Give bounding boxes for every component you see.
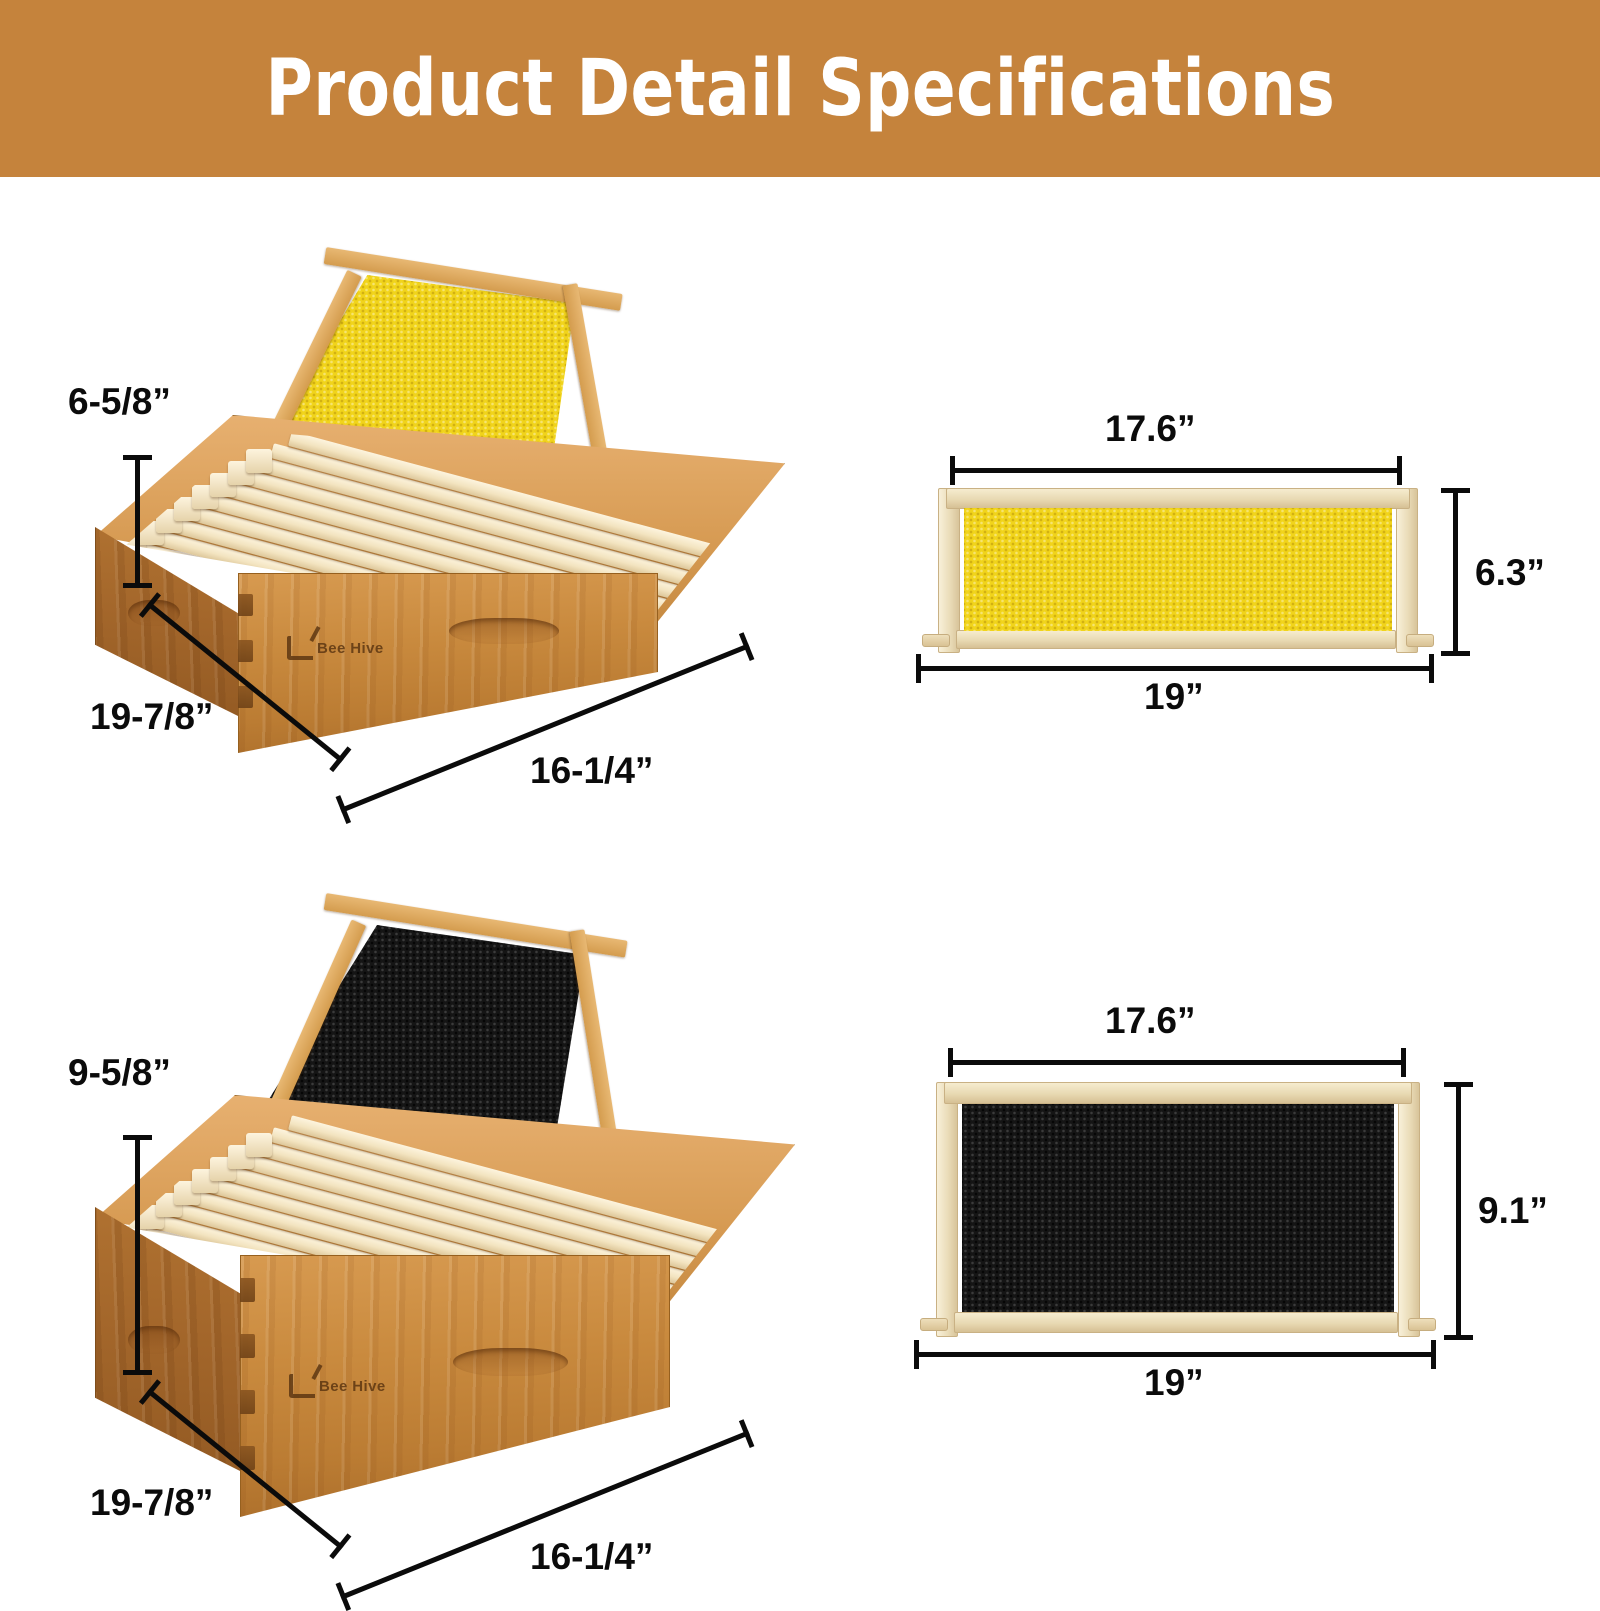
product-medium-super-box: Bee Hive 6-5/8” 19-7/8” 16-1/4” [60, 200, 820, 840]
page-header: Product Detail Specifications [0, 0, 1600, 177]
house-hive-icon [289, 1374, 315, 1398]
frame-ear-left [920, 1318, 948, 1331]
frame-rail-right [1396, 488, 1418, 653]
dimension-label-height: 9-5/8” [68, 1052, 171, 1094]
dimension-line-height [135, 1135, 140, 1375]
foundation-yellow [964, 508, 1392, 631]
product-deep-brood-box: Bee Hive 9-5/8” 19-7/8” 16-1/4” [60, 860, 820, 1580]
dimension-label-width: 16-1/4” [530, 750, 653, 792]
dimension-line-frame-height [1456, 1082, 1461, 1340]
frame-medium-yellow [938, 488, 1418, 653]
foundation-black [962, 1104, 1394, 1312]
dimension-line-height [135, 455, 140, 588]
frame-ear-right [1408, 1318, 1436, 1331]
frame-rail-right [1398, 1082, 1420, 1337]
frame-ear-right [1406, 634, 1434, 647]
dimension-label-overall-width: 19” [1144, 676, 1204, 718]
brand-logo-text: Bee Hive [317, 640, 384, 657]
dimension-label-depth: 19-7/8” [90, 696, 213, 738]
frame-bottom-bar [956, 630, 1396, 649]
frame-ear-left [922, 634, 950, 647]
brand-logo-text: Bee Hive [319, 1378, 386, 1395]
brand-logo: Bee Hive [287, 636, 384, 660]
dimension-label-frame-height: 6.3” [1475, 552, 1545, 594]
frame-bottom-bar [954, 1312, 1398, 1333]
dimension-label-width: 16-1/4” [530, 1536, 653, 1578]
brand-logo: Bee Hive [289, 1374, 386, 1398]
page-title: Product Detail Specifications [265, 44, 1335, 134]
hive-box-deep: Bee Hive [90, 1095, 790, 1545]
box-front-handle [453, 1348, 568, 1376]
dimension-label-frame-height: 9.1” [1478, 1190, 1548, 1232]
product-deep-frame: 17.6” 19” 9.1” [900, 1020, 1560, 1450]
dimension-line-overall-width [914, 1352, 1436, 1357]
dimension-label-overall-width: 19” [1144, 1362, 1204, 1404]
dimension-label-depth: 19-7/8” [90, 1482, 213, 1524]
box-side-face [95, 1207, 242, 1472]
frame-top-bar [944, 1082, 1412, 1104]
dimension-label-topbar-width: 17.6” [1105, 408, 1196, 450]
frame-rail-left [936, 1082, 958, 1337]
box-front-face: Bee Hive [240, 1255, 670, 1517]
hive-box-medium: Bee Hive [90, 415, 780, 805]
frame-rail-left [938, 488, 960, 653]
house-hive-icon [287, 636, 313, 660]
box-front-handle [449, 618, 559, 644]
dimension-line-topbar-width [950, 468, 1402, 473]
dimension-label-height: 6-5/8” [68, 381, 171, 423]
dimension-line-topbar-width [948, 1060, 1406, 1065]
dimension-label-topbar-width: 17.6” [1105, 1000, 1196, 1042]
frame-deep-black [936, 1082, 1420, 1337]
dimension-line-overall-width [916, 666, 1434, 671]
frame-top-bar [946, 488, 1410, 509]
dimension-line-frame-height [1453, 488, 1458, 656]
product-medium-frame: 17.6” 19” 6.3” [900, 380, 1560, 720]
